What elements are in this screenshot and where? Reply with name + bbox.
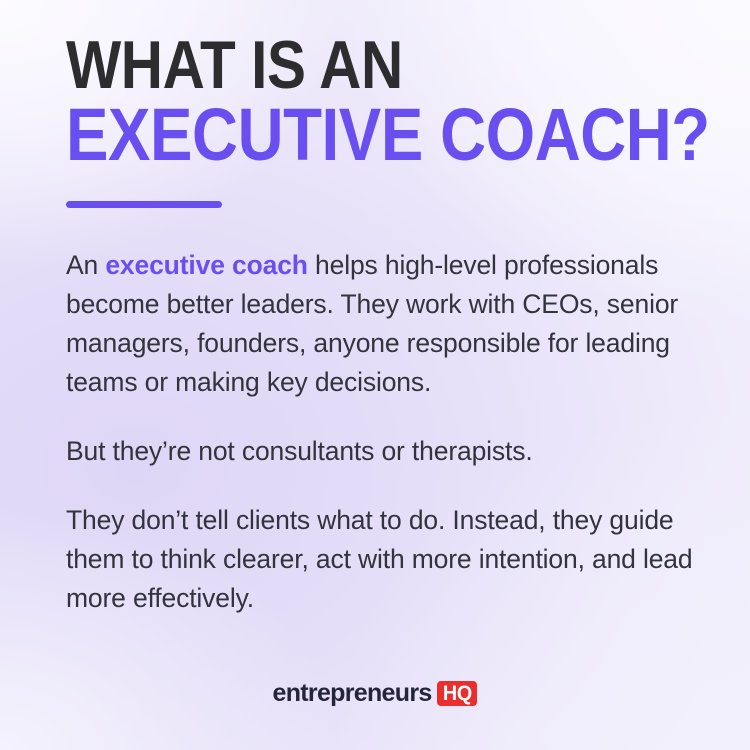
brand-badge-text: HQ xyxy=(442,683,471,704)
brand-logo: entrepreneurs HQ xyxy=(0,681,750,706)
title-underline-rule xyxy=(66,201,222,208)
brand-wordmark: entrepreneurs xyxy=(273,681,432,706)
paragraph-approach: They don’t tell clients what to do. Inst… xyxy=(66,501,702,618)
card-content: WHAT IS AN EXECUTIVE COACH? An executive… xyxy=(0,0,750,750)
emphasis-executive-coach: executive coach xyxy=(105,250,308,280)
brand-badge: HQ xyxy=(437,681,478,706)
body-copy: An executive coach helps high-level prof… xyxy=(66,246,702,618)
infographic-card: WHAT IS AN EXECUTIVE COACH? An executive… xyxy=(0,0,750,750)
paragraph-distinction: But they’re not consultants or therapist… xyxy=(66,432,702,471)
page-title: WHAT IS AN EXECUTIVE COACH? xyxy=(66,36,706,167)
title-line-primary: WHAT IS AN xyxy=(66,36,616,96)
paragraph-definition: An executive coach helps high-level prof… xyxy=(66,246,702,402)
title-line-accent: EXECUTIVE COACH? xyxy=(66,102,616,167)
paragraph-lead-text: An xyxy=(66,250,105,280)
